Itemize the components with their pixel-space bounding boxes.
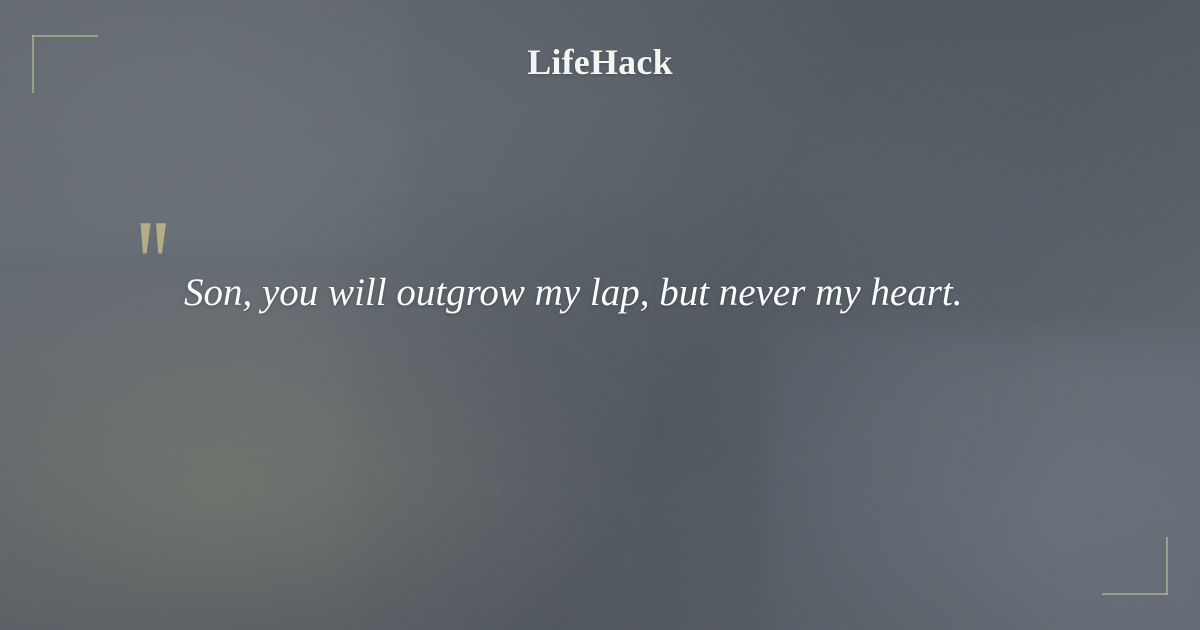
corner-bracket-top-left-horizontal-bar (32, 35, 98, 37)
quote-text: Son, you will outgrow my lap, but never … (136, 268, 1080, 318)
corner-bracket-bottom-right-icon (1102, 537, 1168, 595)
quote-block: Son, you will outgrow my lap, but never … (136, 222, 1080, 318)
quote-card: LifeHack Son, you will outgrow my lap, b… (0, 0, 1200, 630)
brand-logo: LifeHack (0, 41, 1200, 83)
corner-bracket-bottom-right-horizontal-bar (1102, 593, 1168, 595)
corner-bracket-bottom-right-vertical-bar (1166, 537, 1168, 595)
quotation-mark-icon (136, 222, 172, 262)
